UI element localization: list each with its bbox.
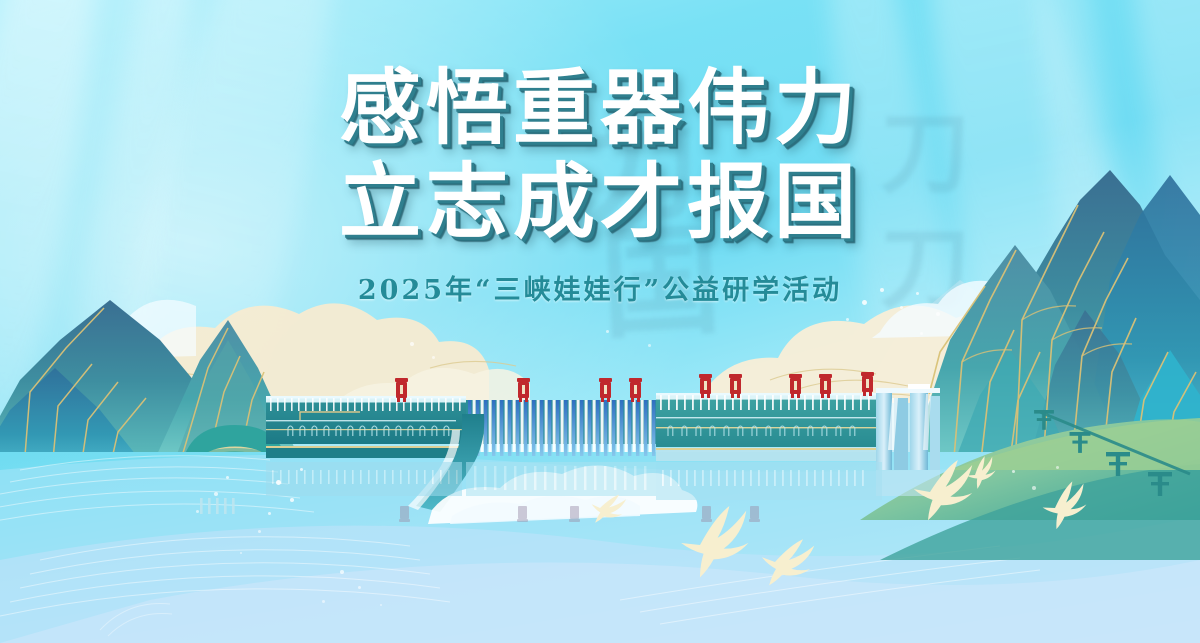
poster-title-block: 感悟重器伟力 立志成才报国 2025年“三峡娃娃行”公益研学活动 [0,62,1200,307]
dam-left-section [266,396,466,458]
title-line-1: 感悟重器伟力 [0,62,1200,156]
title-line-2: 立志成才报国 [0,156,1200,250]
poster-subtitle: 2025年“三峡娃娃行”公益研学活动 [0,268,1200,307]
left-gate-piers [200,498,235,514]
ship-lock-towers [876,384,940,496]
bird [677,504,755,580]
event-banner-poster: 力 国 刀 刀 [0,0,1200,643]
dam-right-section [656,393,886,461]
dam-reflection [266,462,882,522]
bird [759,535,815,589]
bird [1039,479,1092,531]
